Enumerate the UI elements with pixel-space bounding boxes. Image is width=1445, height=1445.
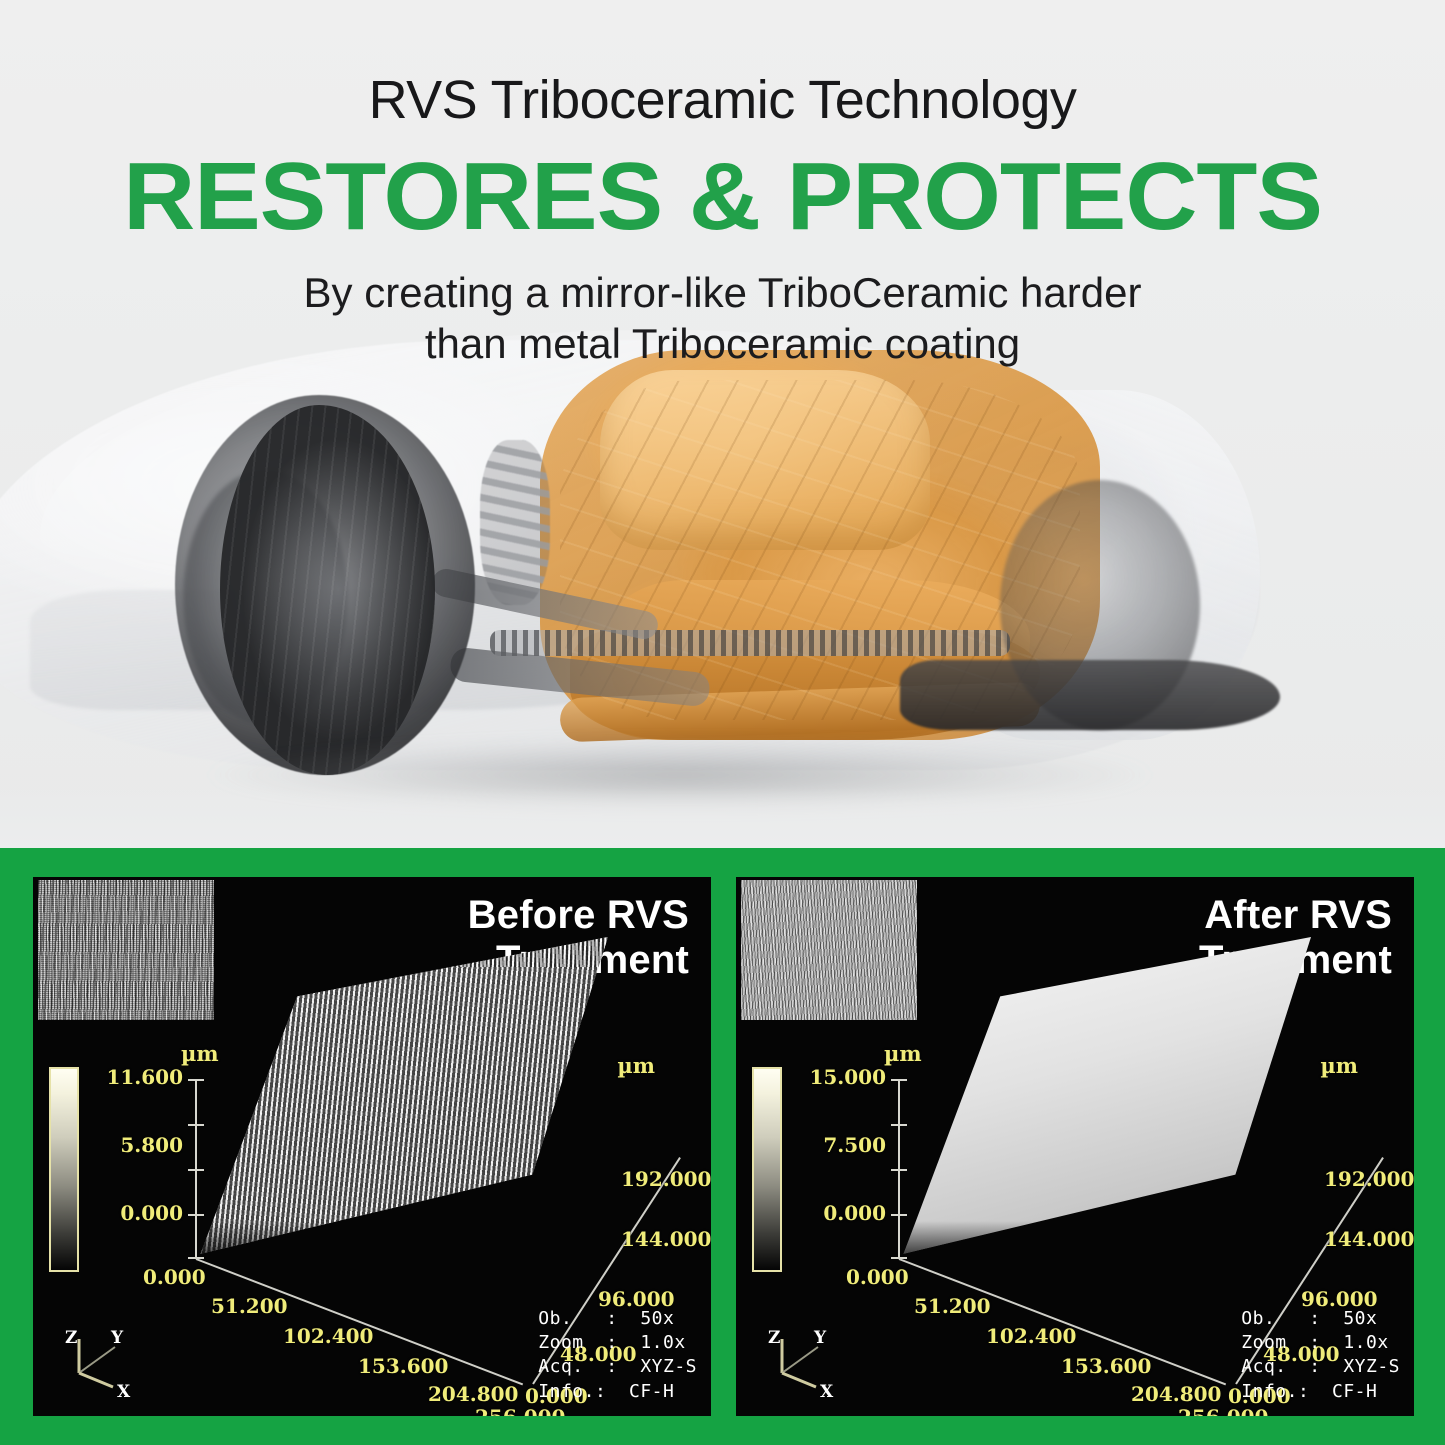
z-axis-labels-after: 15.000 7.500 0.000 xyxy=(794,1065,886,1277)
surface-mesh-before xyxy=(188,937,608,1267)
surface-roughness-crest-before xyxy=(188,937,608,967)
x-tick-label-after-1: 51.200 xyxy=(914,1294,991,1318)
x-tick-label-before-3: 153.600 xyxy=(358,1354,448,1378)
colorbar-gradient-before xyxy=(49,1067,79,1272)
colorbar-gradient-after xyxy=(752,1067,782,1272)
y-axis-unit-before: µm xyxy=(617,1053,655,1078)
z-tick-label-before-1: 5.800 xyxy=(120,1133,183,1157)
subhead-line-1: By creating a mirror-like TriboCeramic h… xyxy=(0,267,1445,318)
comparison-section: Before RVS Treatment 11.600 5.800 0.000 … xyxy=(0,848,1445,1445)
x-tick-label-after-2: 102.400 xyxy=(986,1324,1076,1348)
triad-label-y-after: Y xyxy=(813,1328,827,1348)
surface-edge-shadow-before xyxy=(188,1221,608,1267)
acquisition-metadata-table-before: Ob. : 50x Zoom : 1.0x Acq. : XYZ-S Info.… xyxy=(538,1307,697,1404)
main-headline: RESTORES & PROTECTS xyxy=(0,149,1445,245)
triad-label-y-before: Y xyxy=(110,1328,124,1348)
z-tick-label-before-0: 11.600 xyxy=(106,1065,183,1089)
eyebrow-text: RVS Triboceramic Technology xyxy=(0,72,1445,129)
x-tick-label-before-4: 204.800 xyxy=(428,1382,518,1406)
steering-rack xyxy=(490,630,1010,656)
x-tick-label-before-2: 102.400 xyxy=(283,1324,373,1348)
acquisition-metadata-after: Ob. : 50x Zoom : 1.0x Acq. : XYZ-S Info.… xyxy=(1241,1307,1400,1404)
subhead-line-2: than metal Triboceramic coating xyxy=(0,318,1445,369)
z-tick-label-after-2: 0.000 xyxy=(823,1201,886,1225)
surface-plot-before xyxy=(188,937,608,1267)
y-tick-label-before-0: 192.000 xyxy=(621,1167,711,1191)
x-tick-label-before-0: 0.000 xyxy=(143,1265,206,1289)
height-colorbar-after xyxy=(752,1067,782,1272)
xyz-axis-indicator-before: Z Y X xyxy=(53,1325,163,1405)
panel-title-after-line1: After RVS xyxy=(1199,893,1392,938)
triad-label-z-after: Z xyxy=(768,1328,780,1348)
x-tick-label-after-4: 204.800 xyxy=(1131,1382,1221,1406)
surface-mesh-after xyxy=(891,937,1311,1267)
surface-edge-shadow-after xyxy=(891,1221,1311,1267)
z-tick-label-before-2: 0.000 xyxy=(120,1201,183,1225)
panel-title-before-line1: Before RVS xyxy=(468,893,689,938)
triad-label-x-after: X xyxy=(820,1382,834,1402)
headline-block: RVS Triboceramic Technology RESTORES & P… xyxy=(0,0,1445,369)
y-tick-label-after-1: 144.000 xyxy=(1324,1227,1414,1251)
height-colorbar-before xyxy=(49,1067,79,1272)
front-bumper-lip xyxy=(900,660,1280,730)
hero-bottom-fade xyxy=(0,788,1445,848)
z-axis-labels-before: 11.600 5.800 0.000 xyxy=(91,1065,183,1277)
panel-before-rvs: Before RVS Treatment 11.600 5.800 0.000 … xyxy=(33,877,711,1416)
surface-plot-after xyxy=(891,937,1311,1267)
y-tick-label-before-1: 144.000 xyxy=(621,1227,711,1251)
meta-line-before: Ob. : 50x Zoom : 1.0x Acq. : XYZ-S Info.… xyxy=(538,1307,697,1404)
hero-section: RVS Triboceramic Technology RESTORES & P… xyxy=(0,0,1445,848)
xyz-axis-indicator-after: Z Y X xyxy=(756,1325,866,1405)
x-tick-label-before-1: 51.200 xyxy=(211,1294,288,1318)
y-axis-unit-after: µm xyxy=(1320,1053,1358,1078)
panel-after-rvs: After RVS Treatment 15.000 7.500 0.000 µ… xyxy=(736,877,1414,1416)
z-tick-label-after-0: 15.000 xyxy=(809,1065,886,1089)
triad-label-x-before: X xyxy=(117,1382,131,1402)
z-tick-label-after-1: 7.500 xyxy=(823,1133,886,1157)
meta-line-after: Ob. : 50x Zoom : 1.0x Acq. : XYZ-S Info.… xyxy=(1241,1307,1400,1404)
x-tick-label-after-0: 0.000 xyxy=(846,1265,909,1289)
y-tick-label-after-0: 192.000 xyxy=(1324,1167,1414,1191)
triad-label-z-before: Z xyxy=(65,1328,77,1348)
car-xray-illustration xyxy=(0,330,1445,848)
panel-container: Before RVS Treatment 11.600 5.800 0.000 … xyxy=(0,848,1445,1445)
x-tick-label-after-3: 153.600 xyxy=(1061,1354,1151,1378)
